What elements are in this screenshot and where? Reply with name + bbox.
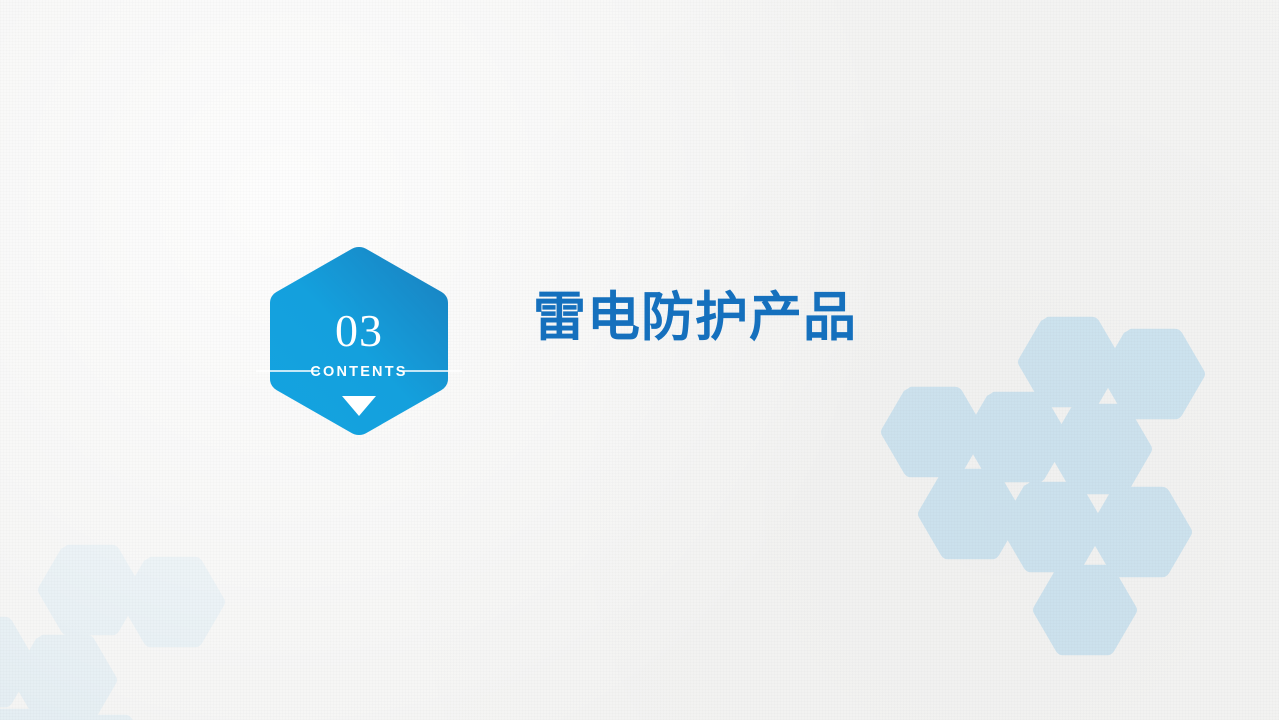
honeycomb-decoration-left: [0, 516, 240, 720]
honeycomb-decoration-right: [860, 316, 1220, 666]
page-title: 雷电防护产品: [533, 288, 857, 349]
honeycomb-cell: [1033, 565, 1137, 656]
honeycomb-cells-right: [881, 317, 1205, 656]
honeycomb-cell: [121, 557, 225, 648]
badge-caption-text: CONTENTS: [310, 364, 407, 380]
honeycomb-cell: [1001, 482, 1105, 573]
honeycomb-cells-left: [0, 545, 225, 720]
honeycomb-cell: [38, 545, 142, 636]
honeycomb-cell: [1088, 487, 1192, 578]
badge-number-text: 03: [335, 305, 383, 356]
section-number-badge: 03 CONTENTS: [268, 246, 450, 436]
honeycomb-cell: [13, 635, 117, 720]
slide-canvas: 03 CONTENTS 雷电防护产品: [0, 0, 1279, 720]
